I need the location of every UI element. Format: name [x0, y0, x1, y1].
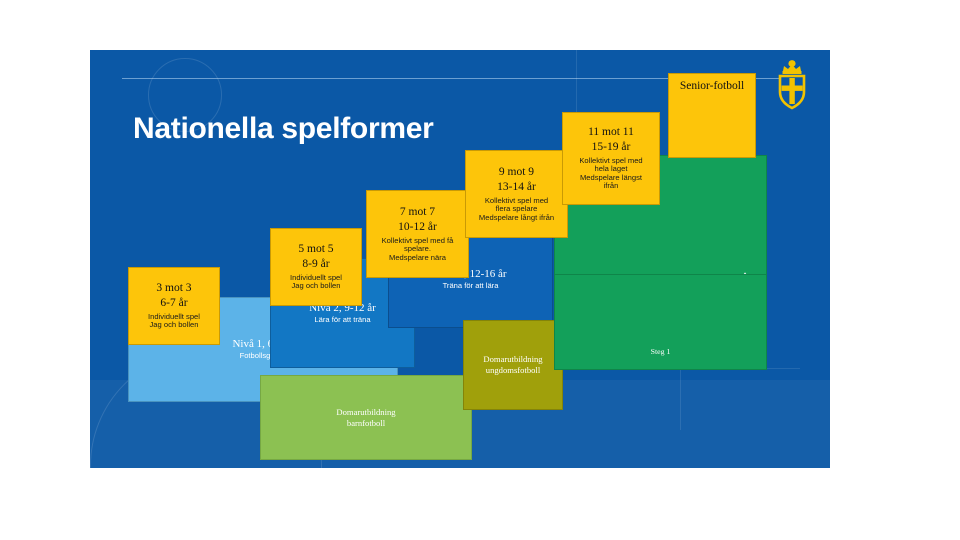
- spelform-5-age: 8-9 år: [302, 258, 329, 271]
- domarutbildning-barnfotboll[interactable]: Domarutbildning barnfotboll: [260, 375, 472, 460]
- steg-1-label-area[interactable]: Steg 1: [554, 274, 767, 370]
- spelform-7-title: 7 mot 7: [400, 206, 435, 219]
- spelform-11-desc-4: ifrån: [604, 182, 619, 191]
- domarutbildning-barn-line1: Domarutbildning: [336, 407, 395, 418]
- screenshot-root: Nationella spelformer Nivå 1, 6-9 år Fot…: [0, 0, 960, 540]
- spelform-9-age: 13-14 år: [497, 181, 536, 194]
- spelform-card-3-mot-3[interactable]: 3 mot 3 6-7 år Individuellt spel Jag och…: [128, 267, 220, 345]
- spelform-7-desc-3: Medspelare nära: [389, 254, 446, 263]
- senior-fotboll-card[interactable]: Senior-fotboll: [668, 73, 756, 158]
- presentation-slide[interactable]: Nationella spelformer Nivå 1, 6-9 år Fot…: [90, 50, 830, 468]
- svff-shield-logo: [772, 58, 812, 110]
- spelform-11-title: 11 mot 11: [588, 126, 634, 139]
- spelform-7-age: 10-12 år: [398, 221, 437, 234]
- spelform-3-desc-2: Jag och bollen: [150, 321, 199, 330]
- domarutbildning-ungdom-line2: ungdomsfotboll: [486, 365, 540, 376]
- spelform-3-title: 3 mot 3: [156, 282, 191, 295]
- page-title: Nationella spelformer: [133, 112, 433, 146]
- domarutbildning-barn-line2: barnfotboll: [347, 418, 385, 429]
- spelform-card-9-mot-9[interactable]: 9 mot 9 13-14 år Kollektivt spel med fle…: [465, 150, 568, 238]
- spelform-card-11-mot-11[interactable]: 11 mot 11 15-19 år Kollektivt spel med h…: [562, 112, 660, 205]
- spelform-9-desc-3: Medspelare långt ifrån: [479, 214, 554, 223]
- spelform-5-desc-2: Jag och bollen: [292, 282, 341, 291]
- domarutbildning-ungdom-line1: Domarutbildning: [483, 354, 542, 365]
- spelform-9-title: 9 mot 9: [499, 166, 534, 179]
- senior-fotboll-label: Senior-fotboll: [680, 80, 744, 93]
- niva-2-subtitle: Lära för att träna: [314, 316, 370, 325]
- spelform-5-title: 5 mot 5: [298, 243, 333, 256]
- spelform-card-7-mot-7[interactable]: 7 mot 7 10-12 år Kollektivt spel med få …: [366, 190, 469, 278]
- spelform-card-5-mot-5[interactable]: 5 mot 5 8-9 år Individuellt spel Jag och…: [270, 228, 362, 306]
- steg-1-label: Steg 1: [651, 347, 671, 357]
- domarutbildning-ungdomsfotboll[interactable]: Domarutbildning ungdomsfotboll: [463, 320, 563, 410]
- niva-3-subtitle: Träna för att lära: [443, 282, 499, 291]
- spelform-11-age: 15-19 år: [592, 141, 631, 154]
- spelform-3-age: 6-7 år: [160, 297, 187, 310]
